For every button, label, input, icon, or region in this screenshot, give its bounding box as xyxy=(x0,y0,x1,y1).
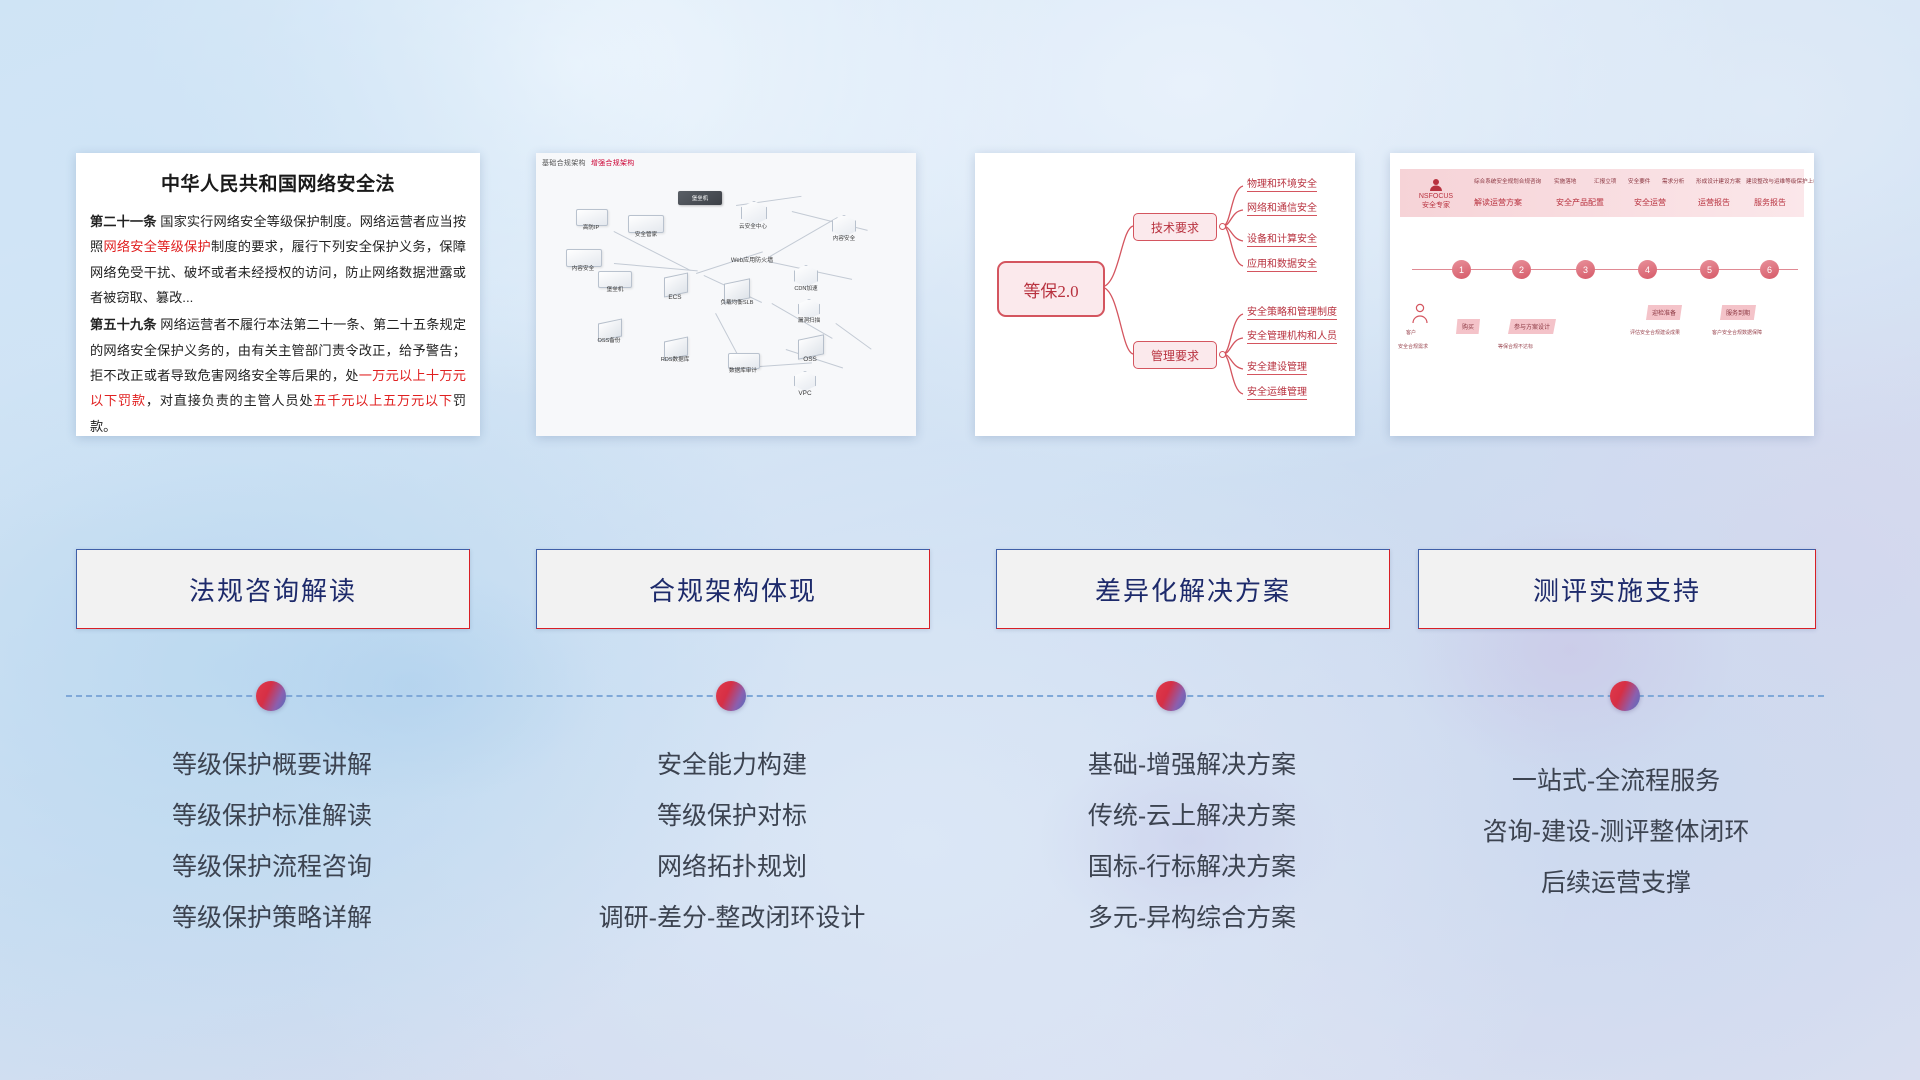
column-differentiated-solution: 基础-增强解决方案 传统-云上解决方案 国标-行标解决方案 多元-异构综合方案 xyxy=(996,740,1388,944)
column-regulation-consulting: 等级保护概要讲解 等级保护标准解读 等级保护流程咨询 等级保护策略详解 xyxy=(76,740,468,944)
article-59-highlight-2: 五千元以上五万元以下 xyxy=(313,393,453,408)
law-body: 中华人民共和国网络安全法 第二十一条 国家实行网络安全等级保护制度。网络运营者应… xyxy=(76,153,480,436)
arch-node-label: 云安全中心 xyxy=(729,224,777,231)
pill-button-compliance-architecture[interactable]: 合规架构体现 xyxy=(536,549,930,629)
arch-node-label: VPC xyxy=(786,390,824,398)
mindmap-leaf: 网络和通信安全 xyxy=(1247,199,1317,216)
roadmap-tag: 迎检准备 xyxy=(1646,305,1682,320)
arch-chip: 堡垒机 xyxy=(678,191,722,205)
expert-person-icon xyxy=(1428,178,1444,192)
list-item: 国标-行标解决方案 xyxy=(996,842,1388,893)
pill-button-regulation-consulting[interactable]: 法规咨询解读 xyxy=(76,549,470,629)
arch-link xyxy=(836,323,872,349)
arch-node-label: CDN加速 xyxy=(786,286,826,293)
arch-header-right: 增强合规架构 xyxy=(591,160,635,167)
arch-node-shape xyxy=(598,271,632,288)
nsfocus-brand-line2: 安全专家 xyxy=(1422,201,1450,210)
mindmap-canvas: 等保2.0 技术要求 管理要求 物理和环境安全 网络和通信安全 设备和计算安全 … xyxy=(975,153,1355,436)
roadmap-mid-label: 安全运营 xyxy=(1634,197,1666,208)
pill-label: 测评实施支持 xyxy=(1533,571,1701,608)
arch-header-left: 基础合规架构 xyxy=(542,160,586,167)
law-title: 中华人民共和国网络安全法 xyxy=(90,169,466,196)
timeline-dot-4[interactable] xyxy=(1610,681,1640,711)
arch-node-shape xyxy=(728,353,760,369)
article-59-text-b: ，对直接负责的主管人员处 xyxy=(146,393,313,408)
mindmap-leaf: 应用和数据安全 xyxy=(1247,255,1317,272)
roadmap-top-label: 实施落地 xyxy=(1554,177,1576,185)
arch-node-shape xyxy=(798,299,820,319)
roadmap-step[interactable]: 2 xyxy=(1512,260,1531,279)
arch-node-label: 高防IP xyxy=(570,225,612,232)
mindmap-root: 等保2.0 xyxy=(997,261,1105,317)
roadmap-mid-label: 运营报告 xyxy=(1698,197,1730,208)
column-evaluation-support: 一站式-全流程服务 咨询-建设-测评整体闭环 后续运营支撑 xyxy=(1418,756,1814,909)
roadmap-top-label: 建设整改与运维等级保护上线安全评估报告 xyxy=(1746,177,1814,185)
arch-node-label: 内容安全 xyxy=(824,236,864,243)
arch-node-label: OSS xyxy=(790,356,830,364)
arch-link xyxy=(736,196,801,206)
mindmap-leaf: 安全建设管理 xyxy=(1247,358,1307,375)
list-item: 等级保护概要讲解 xyxy=(76,740,468,791)
arch-node-label: 漏洞扫描 xyxy=(788,318,830,325)
roadmap-top-label: 安全要件 xyxy=(1628,177,1650,185)
pill-label: 差异化解决方案 xyxy=(1095,571,1291,608)
arch-node-label: 负载均衡SLB xyxy=(708,300,766,307)
arch-node-shape xyxy=(794,265,818,287)
list-item: 安全能力构建 xyxy=(536,740,928,791)
mindmap-leaf: 物理和环境安全 xyxy=(1247,175,1317,192)
arch-node-label: RDS数据库 xyxy=(652,357,698,364)
roadmap-step[interactable]: 5 xyxy=(1700,260,1719,279)
list-item: 等级保护流程咨询 xyxy=(76,842,468,893)
arch-node-label: ECS xyxy=(654,294,696,302)
card-law-text[interactable]: 中华人民共和国网络安全法 第二十一条 国家实行网络安全等级保护制度。网络运营者应… xyxy=(76,153,480,436)
list-item: 后续运营支撑 xyxy=(1418,858,1814,909)
roadmap-sub-label: 安全合规需求 xyxy=(1398,343,1428,350)
roadmap-canvas: NSFOCUS 安全专家 综合系统安全规划合规咨询 实施落地 汇报立项 安全要件… xyxy=(1390,153,1814,436)
list-item: 咨询-建设-测评整体闭环 xyxy=(1418,807,1814,858)
arch-node-label: 堡垒机 xyxy=(592,287,638,294)
arch-node-label: OSS备份 xyxy=(586,338,632,345)
roadmap-mid-label: 安全产品配置 xyxy=(1556,197,1604,208)
arch-node-label: 安全管家 xyxy=(622,232,670,239)
law-article-21: 第二十一条 国家实行网络安全等级保护制度。网络运营者应当按照网络安全等级保护制度… xyxy=(90,209,466,310)
roadmap-step[interactable]: 6 xyxy=(1760,260,1779,279)
arch-node-label: Web应用防火墙 xyxy=(722,258,782,266)
list-item: 等级保护标准解读 xyxy=(76,791,468,842)
roadmap-top-label: 需求分析 xyxy=(1662,177,1684,185)
timeline-dot-2[interactable] xyxy=(716,681,746,711)
card-architecture-diagram[interactable]: 基础合规架构增强合规架构 高防IP 内容安全 堡垒机 xyxy=(536,153,916,436)
roadmap-top-label: 形成设计建设方案 xyxy=(1696,177,1741,185)
arch-header: 基础合规架构增强合规架构 xyxy=(542,158,635,168)
mindmap-leaf: 设备和计算安全 xyxy=(1247,230,1317,247)
arch-node-shape xyxy=(741,201,767,225)
collapse-dot-icon[interactable] xyxy=(1219,351,1226,358)
list-item: 网络拓扑规划 xyxy=(536,842,928,893)
arch-node-shape xyxy=(576,209,608,226)
article-21-highlight: 网络安全等级保护 xyxy=(103,239,211,254)
timeline-dot-1[interactable] xyxy=(256,681,286,711)
list-item: 等级保护对标 xyxy=(536,791,928,842)
collapse-dot-icon[interactable] xyxy=(1219,223,1226,230)
article-21-label: 第二十一条 xyxy=(90,214,157,229)
arch-node-shape xyxy=(794,371,816,391)
roadmap-tag: 参与方案设计 xyxy=(1508,319,1556,334)
timeline-dashed-line xyxy=(66,695,1824,699)
customer-person-icon xyxy=(1410,303,1430,331)
list-item: 基础-增强解决方案 xyxy=(996,740,1388,791)
pill-label: 法规咨询解读 xyxy=(189,571,357,608)
list-item: 调研-差分-整改闭环设计 xyxy=(536,893,928,944)
mindmap-leaf: 安全管理机构和人员 xyxy=(1247,327,1337,344)
article-59-label: 第五十九条 xyxy=(90,317,157,332)
nsfocus-logo: NSFOCUS 安全专家 xyxy=(1408,173,1464,215)
roadmap-mid-label: 解读运营方案 xyxy=(1474,197,1522,208)
mindmap-branch-technical: 技术要求 xyxy=(1133,213,1217,241)
roadmap-top-label: 汇报立项 xyxy=(1594,177,1616,185)
roadmap-step[interactable]: 1 xyxy=(1452,260,1471,279)
pill-button-evaluation-support[interactable]: 测评实施支持 xyxy=(1418,549,1816,629)
card-roadmap[interactable]: NSFOCUS 安全专家 综合系统安全规划合规咨询 实施落地 汇报立项 安全要件… xyxy=(1390,153,1814,436)
column-compliance-architecture: 安全能力构建 等级保护对标 网络拓扑规划 调研-差分-整改闭环设计 xyxy=(536,740,928,944)
architecture-canvas: 基础合规架构增强合规架构 高防IP 内容安全 堡垒机 xyxy=(536,153,916,436)
roadmap-step[interactable]: 3 xyxy=(1576,260,1595,279)
arch-link xyxy=(792,211,868,231)
roadmap-sub-label: 等保合规不达标 xyxy=(1498,343,1533,350)
mindmap-branch-management: 管理要求 xyxy=(1133,341,1217,369)
list-item: 等级保护策略详解 xyxy=(76,893,468,944)
roadmap-sub-label: 评估安全合规建设成果 xyxy=(1630,329,1680,336)
list-item: 传统-云上解决方案 xyxy=(996,791,1388,842)
pill-button-differentiated-solution[interactable]: 差异化解决方案 xyxy=(996,549,1390,629)
roadmap-customer-label: 客户 xyxy=(1406,329,1416,336)
roadmap-step[interactable]: 4 xyxy=(1638,260,1657,279)
mindmap-leaf: 安全运维管理 xyxy=(1247,383,1307,400)
roadmap-sub-label: 客户安全合规数据保障 xyxy=(1712,329,1762,336)
arch-node-shape xyxy=(566,249,602,267)
arch-node-shape xyxy=(628,215,664,233)
card-mindmap[interactable]: 等保2.0 技术要求 管理要求 物理和环境安全 网络和通信安全 设备和计算安全 … xyxy=(975,153,1355,436)
law-article-59: 第五十九条 网络运营者不履行本法第二十一条、第二十五条规定的网络安全保护义务的，… xyxy=(90,312,466,436)
list-item: 多元-异构综合方案 xyxy=(996,893,1388,944)
pill-label: 合规架构体现 xyxy=(649,571,817,608)
mindmap-leaf: 安全策略和管理制度 xyxy=(1247,303,1337,320)
nsfocus-brand-line1: NSFOCUS xyxy=(1419,192,1453,201)
arch-node-label: 数据库审计 xyxy=(718,368,768,375)
roadmap-tag: 服务到期 xyxy=(1720,305,1756,320)
roadmap-mid-label: 服务报告 xyxy=(1754,197,1786,208)
roadmap-top-label: 综合系统安全规划合规咨询 xyxy=(1474,177,1541,185)
roadmap-tag: 购买 xyxy=(1456,319,1480,334)
timeline-dot-3[interactable] xyxy=(1156,681,1186,711)
list-item: 一站式-全流程服务 xyxy=(1418,756,1814,807)
